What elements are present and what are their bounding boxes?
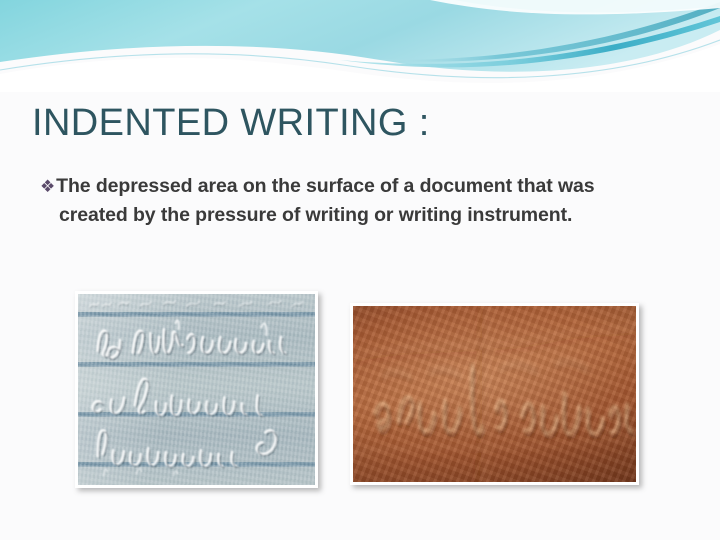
bullet-paragraph-text: The depressed area on the surface of a d… xyxy=(56,175,594,226)
diamond-bullet-icon: ❖ xyxy=(40,177,56,196)
slide-title: INDENTED WRITING : xyxy=(32,101,430,145)
image-esda-indented-writing xyxy=(75,291,318,488)
bullet-paragraph: ❖The depressed area on the surface of a … xyxy=(40,172,660,230)
presentation-slide: INDENTED WRITING : ❖The depressed area o… xyxy=(0,0,720,540)
esda-paper-texture xyxy=(78,294,315,485)
image-oblique-inner xyxy=(353,306,636,482)
image-esda-inner xyxy=(78,294,315,485)
header-wave-decoration xyxy=(0,0,720,92)
wave-ribbon-icon xyxy=(0,0,720,92)
image-oblique-indented-writing xyxy=(350,303,639,485)
oblique-surface-texture xyxy=(353,306,636,482)
slide-body-text: ❖The depressed area on the surface of a … xyxy=(40,172,660,230)
